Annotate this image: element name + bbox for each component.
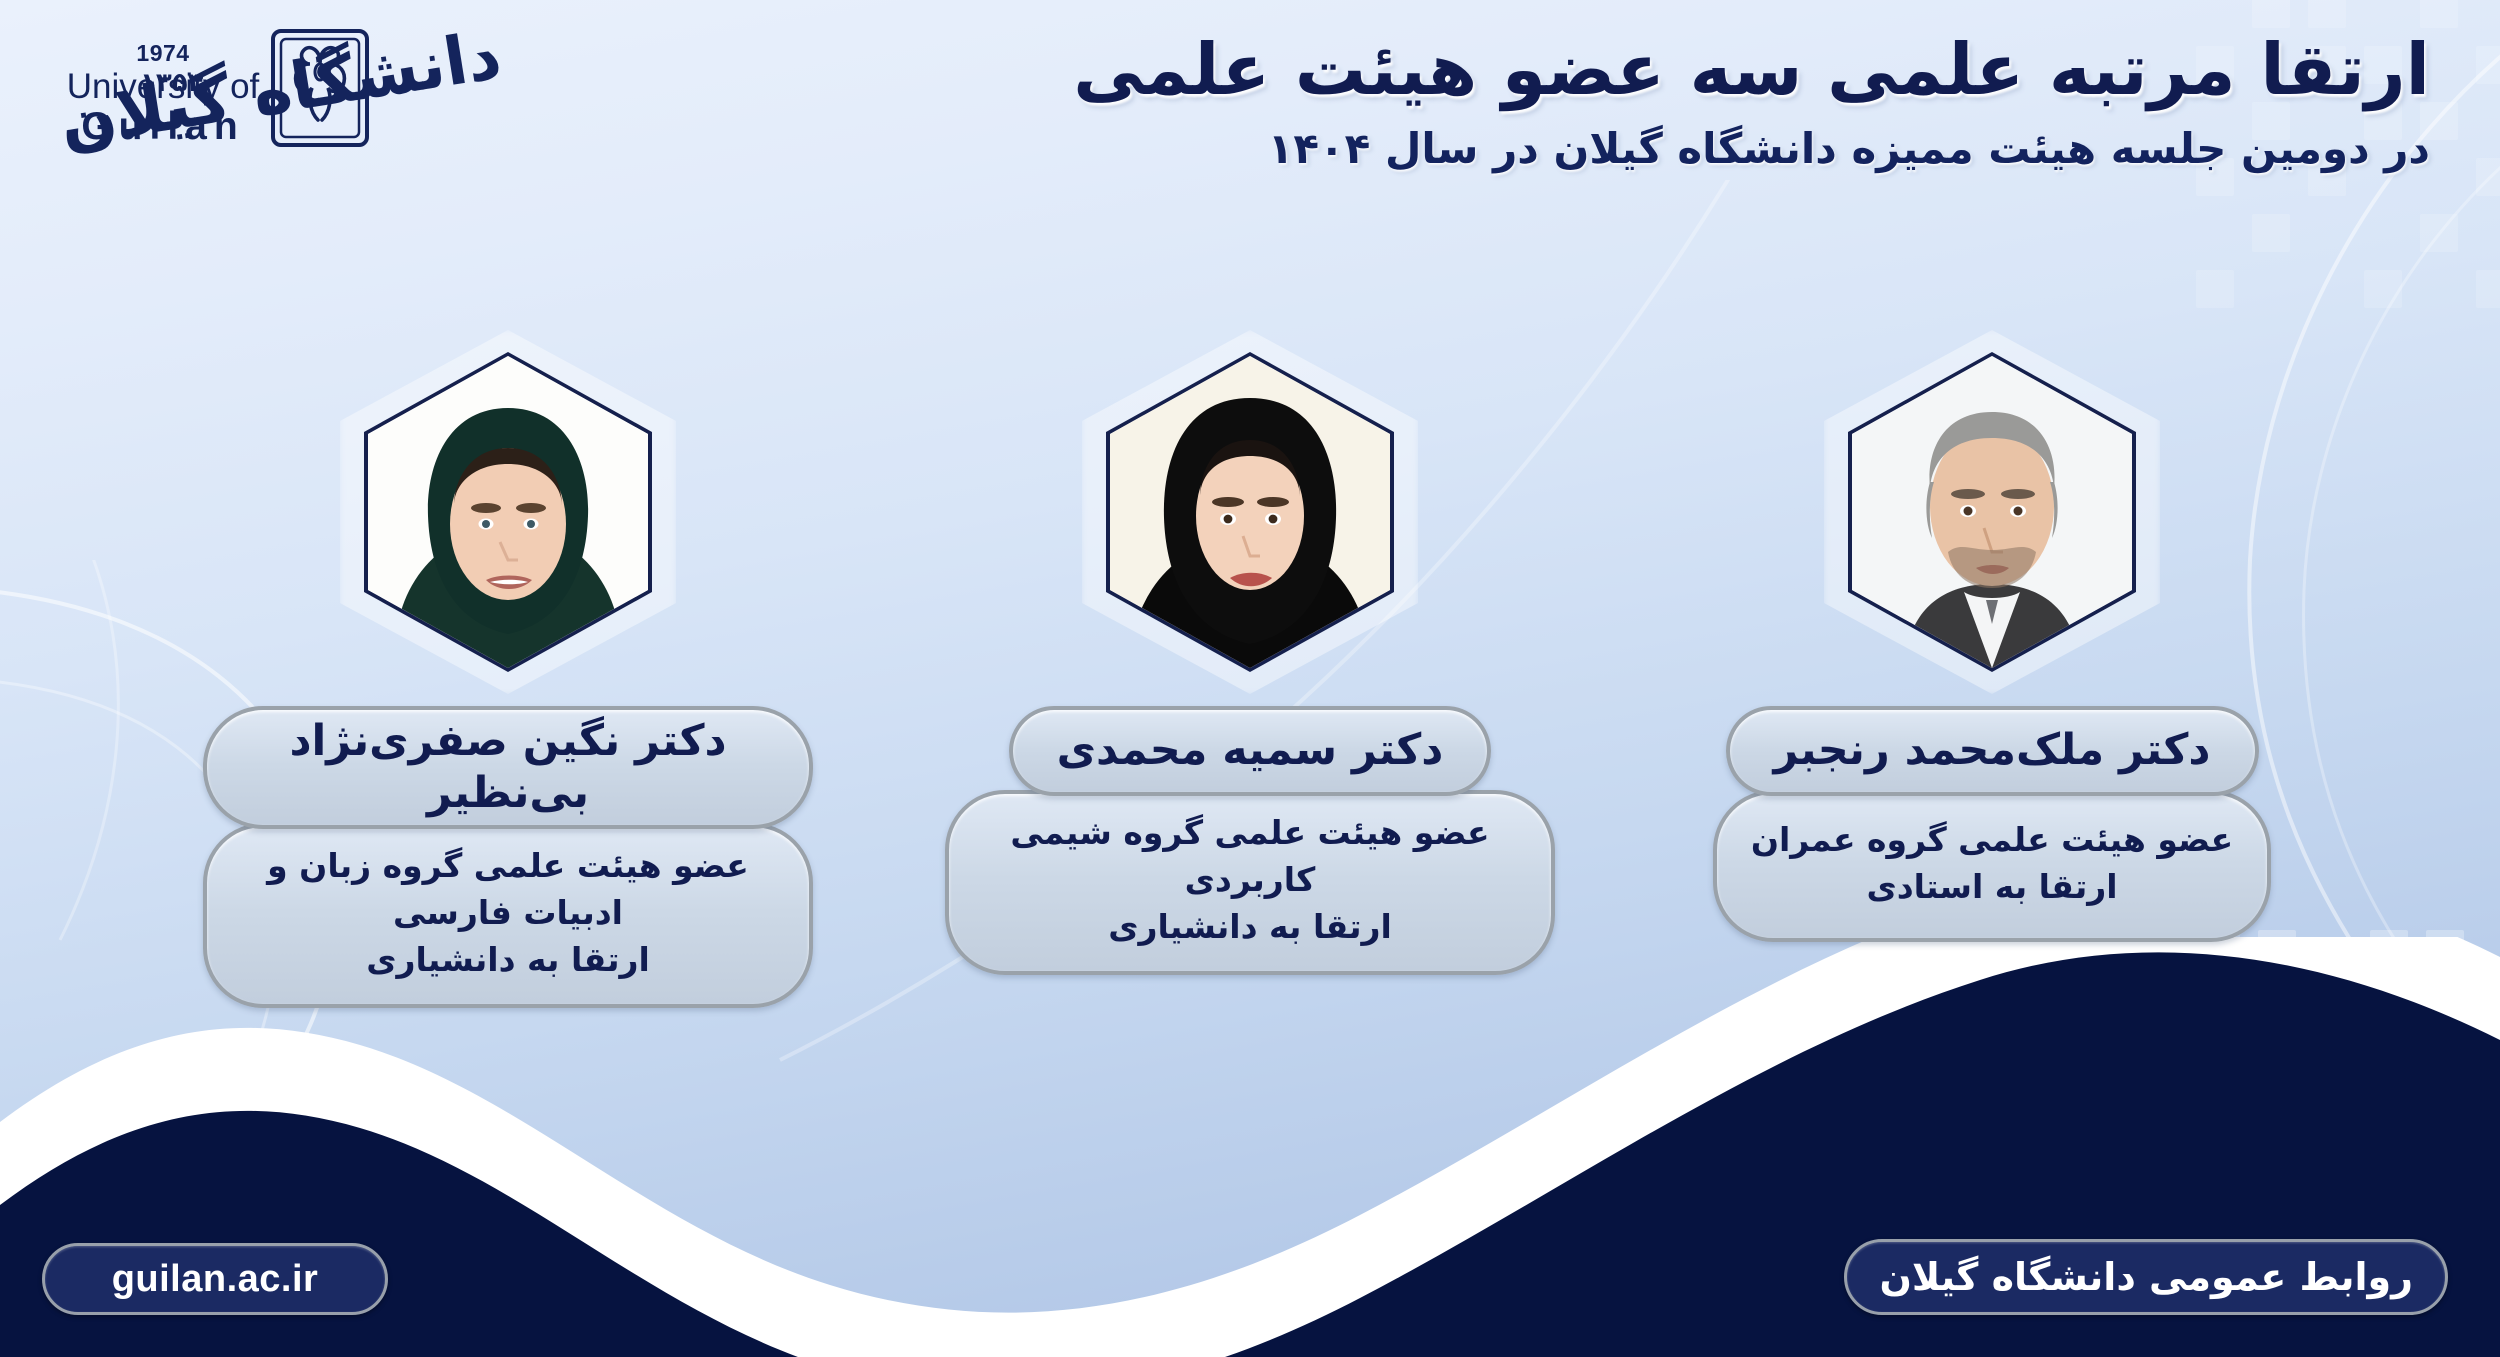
honoree-promotion: ارتقا به دانشیاری (1108, 904, 1392, 951)
header-titles: ارتقا مرتبه علمی سه عضو هیئت علمی در دوم… (970, 28, 2430, 176)
honoree-department: عضو هیئت علمی گروه شیمی کاربردی (983, 810, 1517, 904)
honoree-department: عضو هیئت علمی گروه عمران (1751, 817, 2233, 864)
honoree-photo-frame (364, 352, 652, 672)
honoree-role: عضو هیئت علمی گروه زبان و ادبیات فارسی ا… (203, 823, 813, 1008)
bar-accents-left (0, 1148, 280, 1168)
university-logo[interactable]: 1974 University of Guilan ۱۳۵۳ دانشگاه گ… (30, 10, 500, 140)
honoree-role: عضو هیئت علمی گروه شیمی کاربردی ارتقا به… (945, 790, 1555, 975)
honoree-card[interactable]: دکتر سمیه محمدی عضو هیئت علمی گروه شیمی … (945, 352, 1555, 975)
honoree-name: دکتر نگین صفری‌نژاد بی‌نظیر (203, 706, 813, 829)
honoree-department: عضو هیئت علمی گروه زبان و ادبیات فارسی (241, 843, 775, 937)
public-relations-badge: روابط عمومی دانشگاه گیلان (1844, 1239, 2448, 1315)
honoree-promotion: ارتقا به دانشیاری (366, 937, 650, 984)
honoree-card[interactable]: دکتر ملک‌محمد رنجبر عضو هیئت علمی گروه ع… (1687, 352, 2297, 942)
honoree-photo-frame (1848, 352, 2136, 672)
page-title: ارتقا مرتبه علمی سه عضو هیئت علمی (970, 28, 2430, 112)
poster-canvas: 1974 University of Guilan ۱۳۵۳ دانشگاه گ… (0, 0, 2500, 1357)
honoree-name: دکتر ملک‌محمد رنجبر (1726, 706, 2259, 796)
page-subtitle: در دومین جلسه هیئت ممیزه دانشگاه گیلان د… (970, 122, 2430, 177)
honoree-promotion: ارتقا به استادی (1866, 864, 2117, 911)
honoree-name: دکتر سمیه محمدی (1009, 706, 1492, 796)
honoree-role: عضو هیئت علمی گروه عمران ارتقا به استادی (1713, 790, 2271, 942)
honoree-card[interactable]: دکتر نگین صفری‌نژاد بی‌نظیر عضو هیئت علم… (203, 352, 813, 1008)
honoree-photo-frame (1106, 352, 1394, 672)
website-badge[interactable]: guilan.ac.ir (42, 1243, 388, 1315)
honorees-row: دکتر نگین صفری‌نژاد بی‌نظیر عضو هیئت علم… (0, 352, 2500, 1052)
